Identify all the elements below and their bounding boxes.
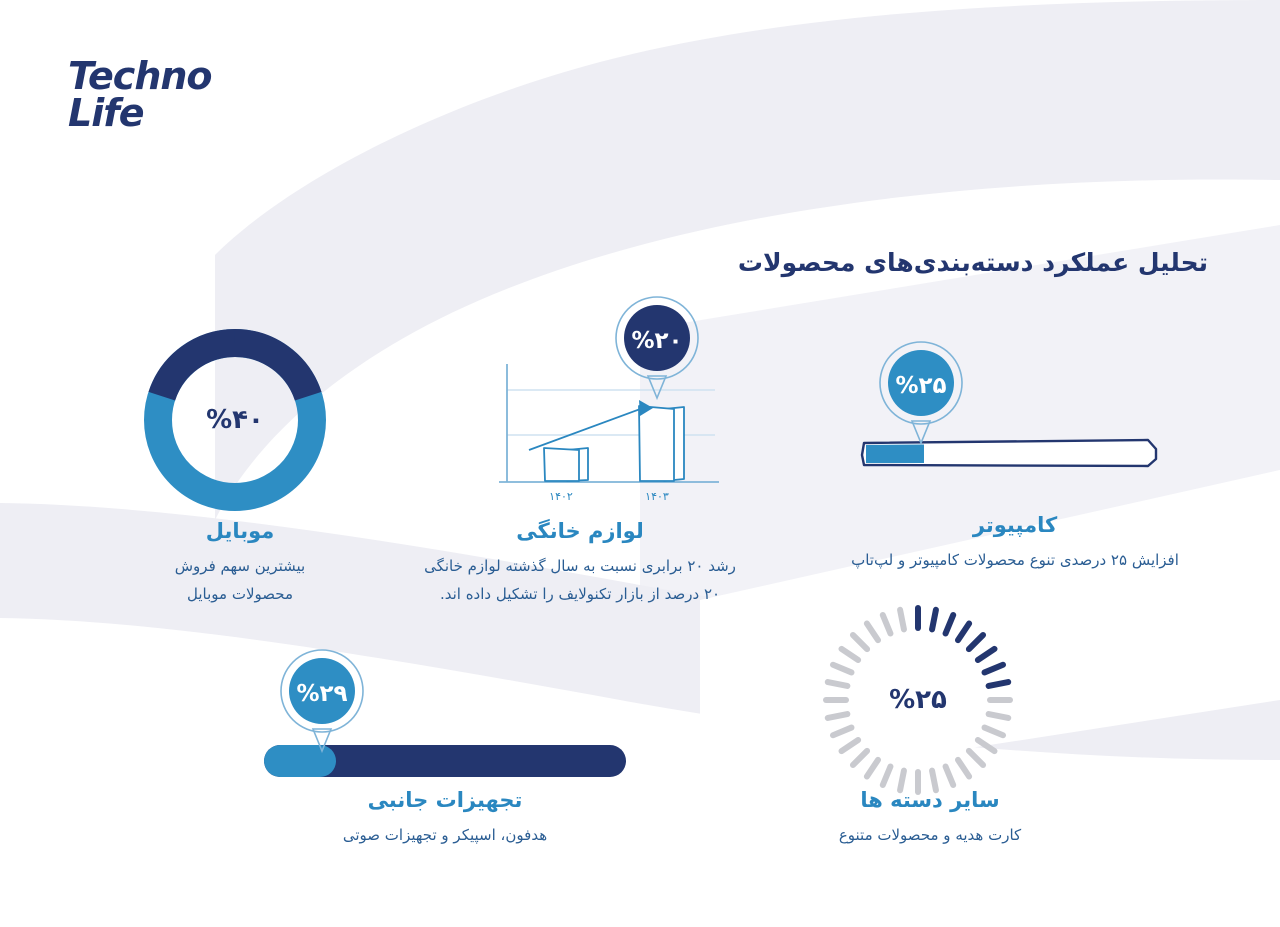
other-radial-gauge: %۲۵: [818, 600, 1018, 800]
trend-line: [529, 408, 643, 450]
card-mobile-title: موبایل: [100, 518, 380, 545]
badge-home-appliance-svg: %۲۰: [612, 290, 702, 405]
card-other-title: سایر دسته ها: [790, 787, 1070, 814]
card-accessories-title: تجهیزات جانبی: [300, 787, 590, 814]
badge-accessories-label: %۲۹: [296, 681, 347, 707]
card-mobile-desc-line-1: بیشترین سهم فروش: [100, 553, 380, 581]
badge-computer-label: %۲۵: [895, 373, 946, 399]
infographic-canvas: Techno Life تحلیل عملکرد دسته‌بندی‌های م…: [0, 0, 1280, 927]
badge-computer: %۲۵: [876, 337, 966, 449]
logo-line-1: Techno: [68, 58, 212, 95]
brand-logo: Techno Life: [68, 58, 212, 132]
badge-computer-svg: %۲۵: [876, 337, 966, 449]
other-gauge-value: %۲۵: [818, 600, 1018, 800]
card-mobile: موبایل بیشترین سهم فروش محصولات موبایل: [100, 518, 380, 609]
card-mobile-desc-line-2: محصولات موبایل: [100, 581, 380, 609]
badge-accessories-svg: %۲۹: [277, 645, 367, 757]
bar-1402-front: [544, 448, 579, 481]
card-accessories-desc-line-1: هدفون، اسپیکر و تجهیزات صوتی: [300, 822, 590, 850]
logo-line-2: Life: [68, 95, 212, 132]
card-accessories: تجهیزات جانبی هدفون، اسپیکر و تجهیزات صو…: [300, 787, 590, 850]
mobile-donut-value: %۴۰: [140, 325, 330, 515]
badge-home-appliance-label: %۲۰: [631, 328, 682, 354]
badge-accessories: %۲۹: [277, 645, 367, 757]
card-home-appliance-title: لوازم خانگی: [420, 518, 740, 545]
bar-1403-front: [639, 406, 674, 481]
bar-axis-label-0: ۱۴۰۲: [549, 490, 573, 503]
mobile-donut-chart: %۴۰: [140, 325, 330, 515]
card-other-desc-line-1: کارت هدیه و محصولات متنوع: [790, 822, 1070, 850]
page-title: تحلیل عملکرد دسته‌بندی‌های محصولات: [738, 248, 1208, 277]
card-computer-title: کامپیوتر: [850, 512, 1180, 539]
card-computer: کامپیوتر افزایش ۲۵ درصدی تنوع محصولات کا…: [850, 512, 1180, 575]
card-home-appliance: لوازم خانگی رشد ۲۰ برابری نسبت به سال گذ…: [420, 518, 740, 609]
card-other: سایر دسته ها کارت هدیه و محصولات متنوع: [790, 787, 1070, 850]
card-computer-desc-line-1: افزایش ۲۵ درصدی تنوع محصولات کامپیوتر و …: [850, 547, 1180, 575]
card-home-appliance-desc-line-2: ۲۰ درصد از بازار تکنولایف را تشکیل داده …: [420, 581, 740, 609]
bar-axis-label-1: ۱۴۰۳: [645, 490, 669, 503]
card-home-appliance-desc-line-1: رشد ۲۰ برابری نسبت به سال گذشته لوازم خا…: [420, 553, 740, 581]
badge-home-appliance: %۲۰: [612, 290, 702, 405]
